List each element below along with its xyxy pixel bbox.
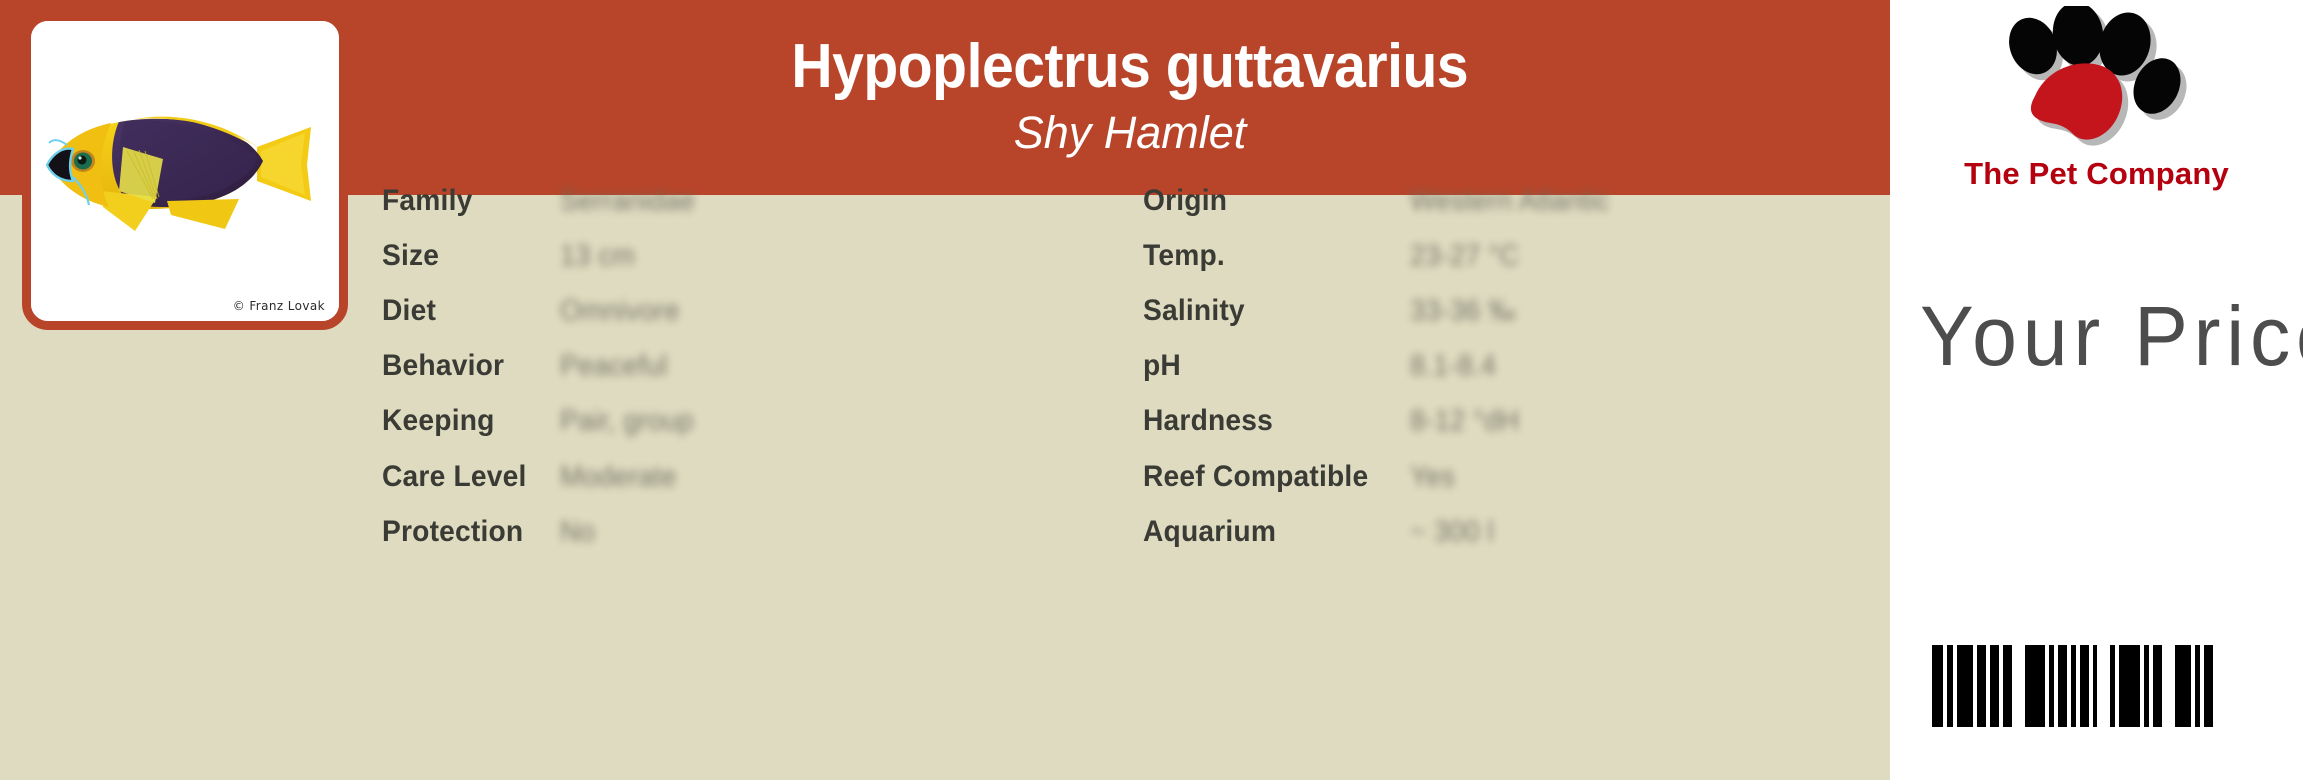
spec-label-behavior: Behavior — [382, 349, 504, 383]
spec-row-ph: pH 8.1-8.4 — [1143, 338, 1183, 394]
spec-label-salinity: Salinity — [1143, 294, 1245, 328]
product-barcode — [1932, 645, 2217, 727]
spec-value-size: 13 cm — [560, 240, 635, 273]
price-panel: The Pet Company Your Price — [1890, 0, 2303, 780]
spec-value-hardness: 8-12 °dH — [1410, 405, 1519, 438]
barcode-bar — [2110, 645, 2115, 727]
spec-row-reef-compatible: Reef Compatible Yes — [1143, 449, 1383, 505]
spec-label-size: Size — [382, 239, 439, 273]
spec-row-salinity: Salinity 33-36 ‰ — [1143, 283, 1251, 339]
spec-value-care-level: Moderate — [560, 461, 677, 494]
spec-row-protection: Protection No — [382, 504, 532, 560]
barcode-bar — [2204, 645, 2213, 727]
brand-name-text: The Pet Company — [1947, 156, 2247, 192]
spec-value-ph: 8.1-8.4 — [1410, 350, 1496, 383]
spec-row-family: Family Serranidae — [382, 173, 478, 229]
spec-grid: Family Serranidae Size 13 cm Diet Omnivo… — [0, 195, 1890, 780]
spec-row-hardness: Hardness 8-12 °dH — [1143, 393, 1281, 449]
spec-value-origin: Western Atlantic — [1410, 185, 1609, 218]
spec-row-keeping: Keeping Pair, group — [382, 393, 502, 449]
barcode-bar — [1932, 645, 1943, 727]
spec-label-ph: pH — [1143, 349, 1181, 383]
spec-value-diet: Omnivore — [560, 295, 680, 328]
spec-label-diet: Diet — [382, 294, 436, 328]
spec-row-behavior: Behavior Peaceful — [382, 338, 512, 394]
spec-row-diet: Diet Omnivore — [382, 283, 439, 339]
spec-row-origin: Origin Western Atlantic — [1143, 173, 1233, 229]
barcode-bar — [2175, 645, 2191, 727]
spec-label-origin: Origin — [1143, 184, 1227, 218]
your-price-label: Your Price — [1920, 288, 2303, 385]
spec-value-reef-compatible: Yes — [1410, 461, 1455, 494]
barcode-bar — [2195, 645, 2200, 727]
barcode-bar — [1990, 645, 1999, 727]
product-label: Hypoplectrus guttavarius Shy Hamlet — [0, 0, 2303, 780]
spec-label-care-level: Care Level — [382, 460, 527, 494]
spec-value-aquarium: ~ 300 l — [1410, 516, 1494, 549]
barcode-bar — [2003, 645, 2012, 727]
barcode-bar — [2049, 645, 2054, 727]
barcode-bar — [2144, 645, 2149, 727]
spec-value-keeping: Pair, group — [560, 405, 694, 438]
barcode-bar — [2071, 645, 2076, 727]
spec-label-hardness: Hardness — [1143, 404, 1273, 438]
spec-value-protection: No — [560, 516, 595, 549]
spec-label-reef-compatible: Reef Compatible — [1143, 460, 1368, 494]
spec-column-right: Origin Western Atlantic Temp. 23-27 °C S… — [1143, 195, 1843, 780]
species-info-panel: Hypoplectrus guttavarius Shy Hamlet — [0, 0, 1890, 780]
barcode-bar — [2058, 645, 2067, 727]
spec-value-temp: 23-27 °C — [1410, 240, 1519, 273]
barcode-bar — [1957, 645, 1973, 727]
brand-logo: The Pet Company — [1947, 6, 2247, 202]
paw-print-icon — [1947, 6, 2247, 156]
spec-value-salinity: 33-36 ‰ — [1410, 295, 1516, 328]
barcode-bar — [2093, 645, 2097, 727]
barcode-bar — [2025, 645, 2045, 727]
barcode-bar — [1947, 645, 1953, 727]
spec-value-behavior: Peaceful — [560, 350, 668, 383]
barcode-bar — [2119, 645, 2140, 727]
barcode-bar — [2080, 645, 2089, 727]
common-name-subtitle: Shy Hamlet — [1014, 105, 1247, 161]
header-text-block: Hypoplectrus guttavarius Shy Hamlet — [370, 0, 1890, 195]
scientific-name-title: Hypoplectrus guttavarius — [792, 34, 1469, 99]
spec-row-aquarium: Aquarium ~ 300 l — [1143, 504, 1285, 560]
spec-value-family: Serranidae — [560, 185, 695, 218]
spec-row-temp: Temp. 23-27 °C — [1143, 228, 1230, 284]
spec-label-protection: Protection — [382, 515, 523, 549]
spec-label-keeping: Keeping — [382, 404, 495, 438]
spec-row-care-level: Care Level Moderate — [382, 449, 536, 505]
spec-label-family: Family — [382, 184, 472, 218]
spec-row-size: Size 13 cm — [382, 228, 443, 284]
spec-column-left: Family Serranidae Size 13 cm Diet Omnivo… — [382, 195, 1082, 780]
barcode-bar — [2153, 645, 2162, 727]
spec-label-temp: Temp. — [1143, 239, 1225, 273]
barcode-bar — [1977, 645, 1986, 727]
spec-label-aquarium: Aquarium — [1143, 515, 1276, 549]
